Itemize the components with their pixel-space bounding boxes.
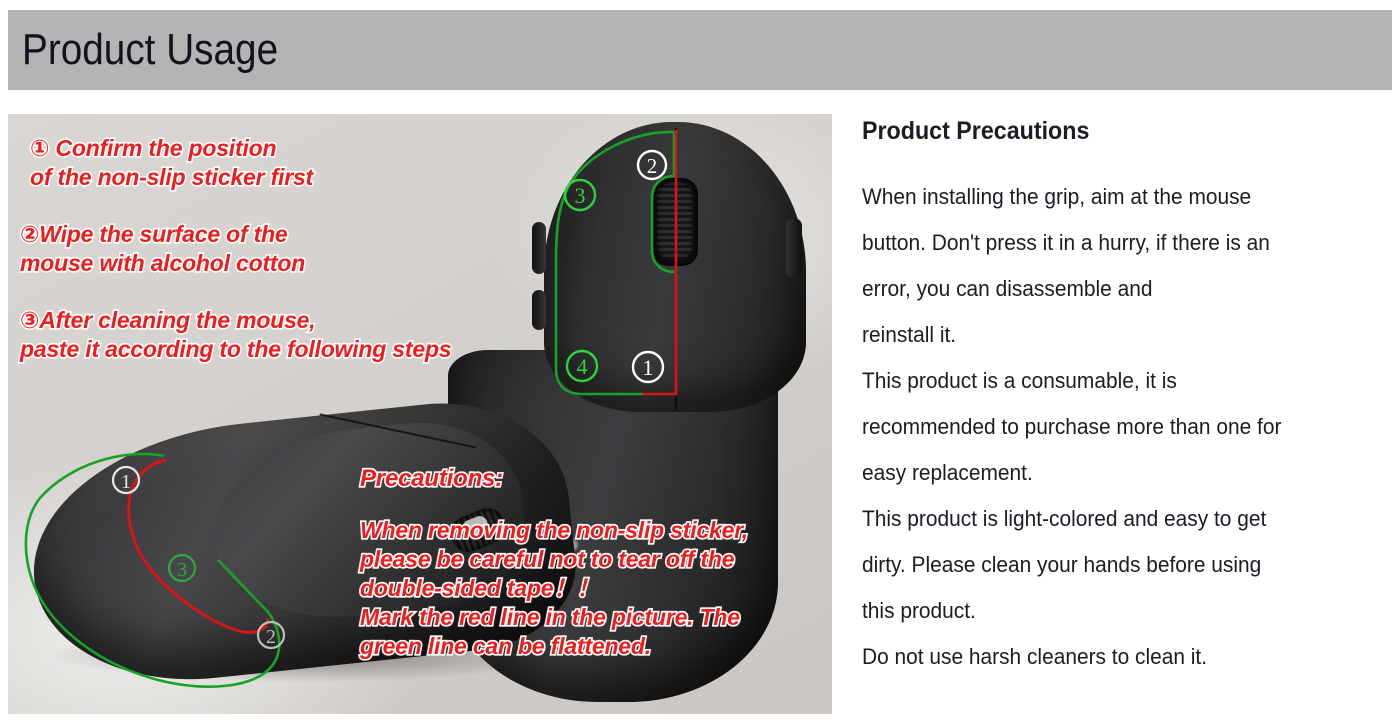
svg-text:3: 3 (575, 183, 586, 208)
precaution-line: This product is light-colored and easy t… (862, 496, 1364, 542)
page-title: Product Usage (22, 24, 278, 76)
usage-step-1-text: ① Confirm the position of the non-slip s… (30, 134, 313, 192)
svg-text:1: 1 (643, 355, 654, 380)
marker-2-top: 2 (638, 151, 666, 179)
precaution-line: dirty. Please clean your hands before us… (862, 542, 1364, 588)
photo-precautions-body: When removing the non-slip sticker, plea… (360, 516, 748, 661)
usage-step-2-text: ②Wipe the surface of the mouse with alco… (20, 220, 305, 278)
marker-4-top: 4 (567, 351, 597, 381)
product-usage-photo: 2 3 4 1 (8, 114, 832, 714)
top-view-annotation-overlay: 2 3 4 1 (524, 122, 824, 412)
svg-text:4: 4 (577, 354, 588, 379)
green-outline-wheel (652, 132, 674, 272)
precaution-line: reinstall it. (862, 312, 1364, 358)
mouse-top-view-image: 2 3 4 1 (524, 122, 824, 412)
precaution-line: easy replacement. (862, 450, 1364, 496)
svg-text:2: 2 (647, 154, 658, 178)
precaution-line: recommended to purchase more than one fo… (862, 404, 1364, 450)
precaution-line: this product. (862, 588, 1364, 634)
page-header-band: Product Usage (8, 10, 1392, 90)
precaution-line: Do not use harsh cleaners to clean it. (862, 634, 1364, 680)
svg-text:2: 2 (266, 626, 276, 648)
red-line-side (129, 460, 268, 632)
product-precautions-body: When installing the grip, aim at the mou… (862, 174, 1390, 680)
svg-text:1: 1 (121, 471, 131, 493)
usage-step-3-text: ③After cleaning the mouse, paste it acco… (20, 306, 451, 364)
marker-1-top: 1 (633, 352, 663, 382)
photo-precautions-heading: Precautions: (360, 464, 503, 493)
precaution-line: This product is a consumable, it is (862, 358, 1364, 404)
marker-3-top: 3 (565, 180, 595, 210)
marker-3-side: 3 (169, 555, 195, 581)
precaution-line: When installing the grip, aim at the mou… (862, 174, 1364, 220)
marker-2-side: 2 (258, 622, 284, 648)
precaution-line: error, you can disassemble and (862, 266, 1364, 312)
precaution-line: button. Don't press it in a hurry, if th… (862, 220, 1364, 266)
svg-text:3: 3 (177, 559, 187, 581)
product-precautions-section: Product Precautions When installing the … (862, 114, 1390, 680)
product-precautions-title: Product Precautions (862, 114, 1353, 148)
